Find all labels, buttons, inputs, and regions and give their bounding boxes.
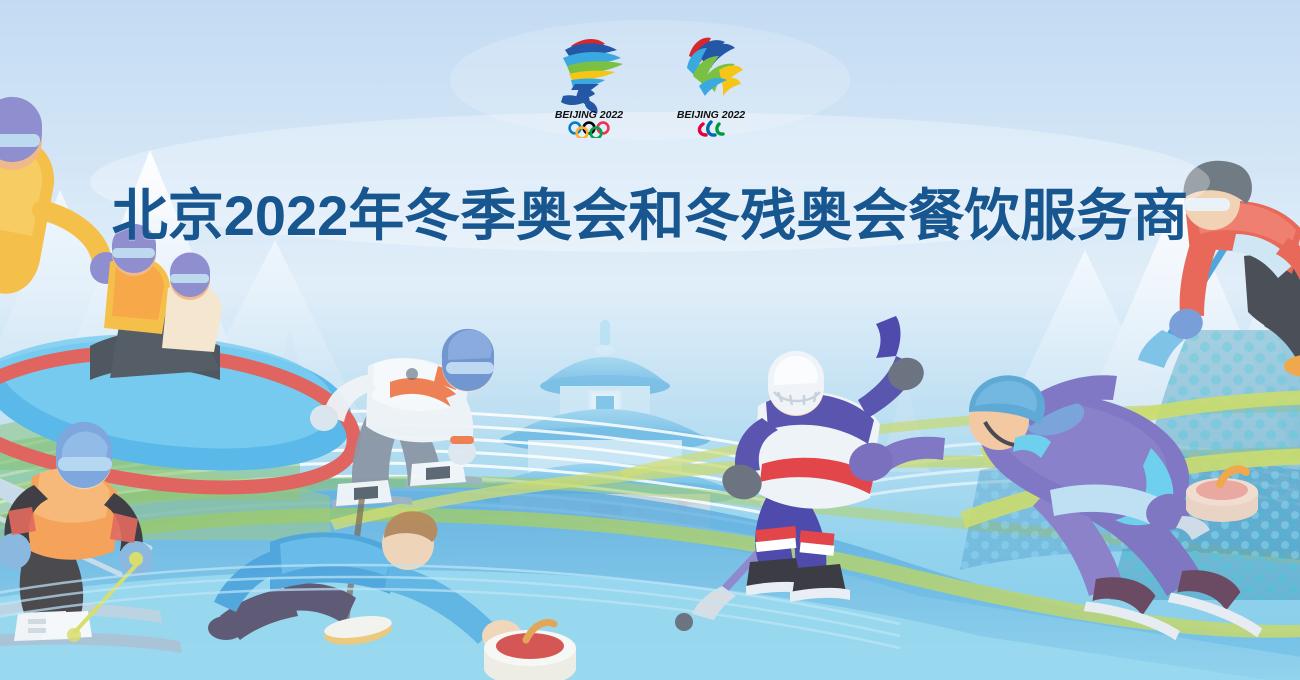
page-title-wrapper: 北京2022年冬季奥会和冬残奥会餐饮服务商 (0, 147, 1300, 284)
olympic-wordmark: BEIJING 2022 (555, 109, 623, 121)
agitos-icon (699, 122, 723, 135)
paralympic-wordmark: BEIJING 2022 (677, 109, 745, 121)
beijing-2022-paralympic-emblem: BEIJING 2022 (663, 30, 759, 138)
beijing-2022-catering-banner: BEIJING 2022 (0, 0, 1300, 680)
olympic-rings (570, 123, 609, 138)
emblem-row: BEIJING 2022 (0, 30, 1300, 138)
page-title: 北京2022年冬季奥会和冬残奥会餐饮服务商 (112, 185, 1189, 247)
beijing-2022-olympic-emblem: BEIJING 2022 (541, 30, 637, 138)
